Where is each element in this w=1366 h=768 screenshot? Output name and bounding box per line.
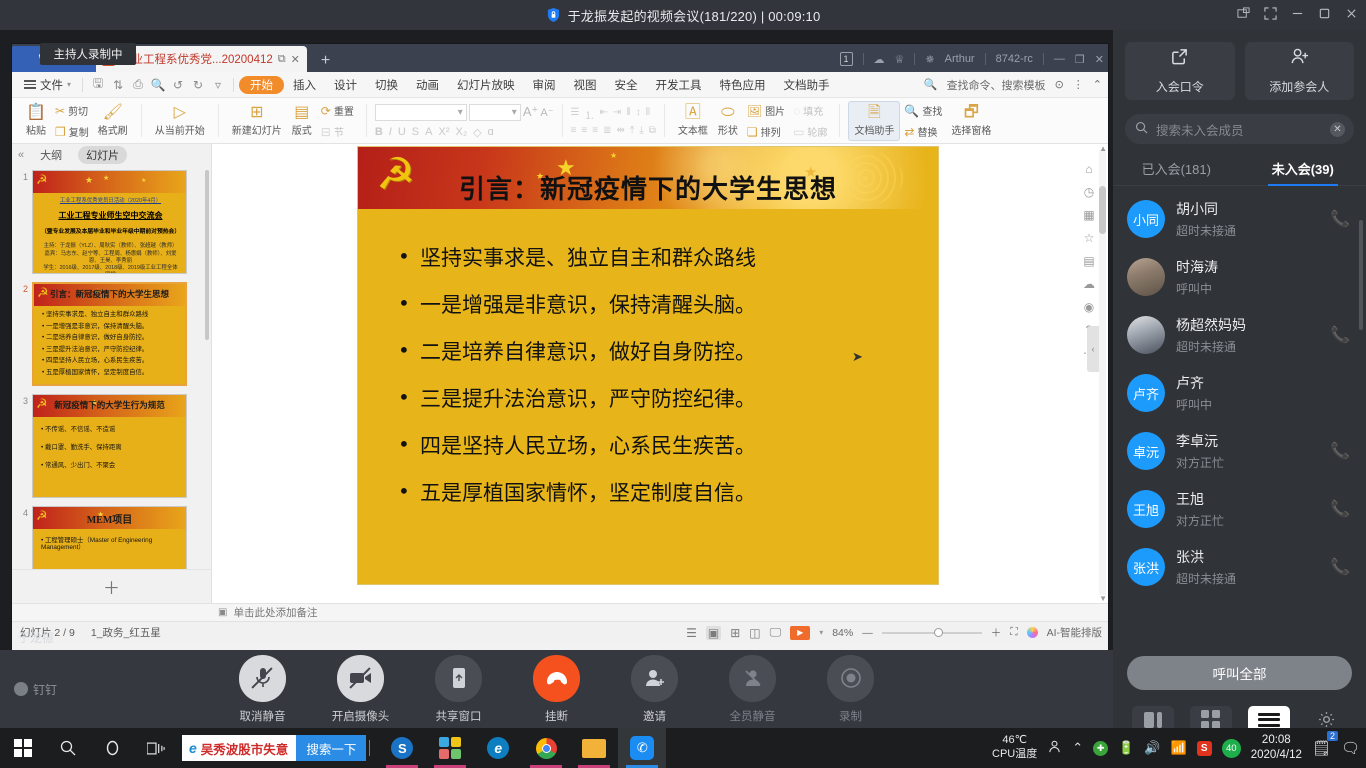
shapes-icon: ⬭ <box>721 105 735 121</box>
bullet-list-icon[interactable]: ☰ <box>571 107 580 122</box>
shirt-icon[interactable]: ♕ <box>895 53 905 66</box>
menu-tab-doc-assistant[interactable]: 文档助手 <box>775 75 839 95</box>
taskbar-tray: 46℃ CPU温度 ⌃ ✚ 🔋 🔊 📶 S 40 20:08 2020/4/12… <box>992 733 1366 763</box>
slide-bullet: 四是坚持人民立场，心系民生疾苦。 <box>396 435 920 458</box>
ai-layout-label[interactable]: AI-智能排版 <box>1047 625 1102 640</box>
format-painter-label: 格式刷 <box>98 122 128 137</box>
participant-name: 李卓沅 <box>1176 431 1224 451</box>
search-input[interactable]: 搜索未入会成员 ✕ <box>1125 114 1354 144</box>
taskbar-app-chrome[interactable] <box>522 728 570 768</box>
chevron-down-icon[interactable]: ▾ <box>819 628 823 637</box>
increase-indent-icon[interactable]: ⇥ <box>613 107 621 122</box>
thumbnail-number: 2 <box>16 282 28 386</box>
notification-icon[interactable]: 🗒 2 <box>1312 739 1331 757</box>
normal-view-icon[interactable]: ▣ <box>706 626 721 640</box>
picture-button[interactable]: 🖼图片 <box>743 101 789 120</box>
slide-editing-area[interactable]: ☭ ★ ★ ★ ★ 引言：新冠疫情下的大学生思想 坚持实事求是、独立自主和群众路… <box>212 144 1108 603</box>
record-button[interactable]: 录制 <box>807 655 895 724</box>
thumbnail-scrollbar[interactable] <box>205 170 209 340</box>
doc-assistant-button[interactable]: 🗎 文档助手 <box>848 101 900 141</box>
justify-icon[interactable]: ≣ <box>603 125 611 136</box>
play-from-current-label: 从当前开始 <box>155 122 205 137</box>
tab-joined[interactable]: 已入会(181) <box>1113 152 1240 185</box>
clear-circle-icon[interactable]: ✕ <box>1330 122 1345 137</box>
maximize-icon[interactable] <box>1318 7 1331 23</box>
thumbnail-pane-header: « 大纲 幻灯片 <box>12 144 211 166</box>
smart-align-icon[interactable]: ⧉ <box>649 125 656 136</box>
copy-icon: ❐ <box>55 125 66 139</box>
thumb-bullet: • 三是提升法治意识，严守防控纪律。 <box>42 346 179 353</box>
taskbar-app-sogou[interactable]: S <box>378 728 426 768</box>
participant-status: 超时未接通 <box>1176 338 1246 355</box>
mute-button[interactable]: 取消静音 <box>219 655 307 724</box>
participant-row[interactable]: 王旭 王旭 对方正忙 📞 <box>1113 480 1366 538</box>
align-middle-icon[interactable]: ⤓ <box>639 125 643 136</box>
collapse-pane-icon[interactable]: « <box>18 149 24 161</box>
cpu-temperature[interactable]: 46℃ CPU温度 <box>992 734 1037 762</box>
outline-view-icon[interactable]: ☰ <box>686 626 697 640</box>
menu-tab-animations[interactable]: 动画 <box>407 75 448 95</box>
columns-icon[interactable]: ⫴ <box>646 107 650 122</box>
cut-button[interactable]: ✂剪切 <box>51 101 93 120</box>
phone-icon[interactable]: 📞 <box>1330 441 1350 461</box>
replace-button[interactable]: ⇄替换 <box>900 122 946 141</box>
action-center-icon[interactable]: 🗨 <box>1341 739 1360 757</box>
taskbar-app-edge[interactable]: e <box>474 728 522 768</box>
scroll-down-icon[interactable]: ▼ <box>1099 594 1107 603</box>
reading-view-icon[interactable]: ◫ <box>749 626 760 640</box>
ribbon-group-insert: 🄰 文本框 ⬭ 形状 🖼图片 ❏排列 ◌填充 ▭轮廓 <box>668 100 837 142</box>
microphone-muted-icon <box>239 655 286 702</box>
section-label: 节 <box>334 124 344 139</box>
notes-bar[interactable]: ▣ 单击此处添加备注 <box>12 603 1108 621</box>
participant-row[interactable]: 卢齐 卢齐 呼叫中 <box>1113 364 1366 422</box>
decrease-indent-icon[interactable]: ⇤ <box>600 107 608 122</box>
more-icon[interactable]: ⋮ <box>1073 78 1084 91</box>
recording-tooltip: 主持人录制中 <box>40 43 136 65</box>
task-view-icon[interactable] <box>134 741 178 756</box>
participant-row[interactable]: 卓沅 李卓沅 对方正忙 📞 <box>1113 422 1366 480</box>
maximize-icon[interactable]: ❐ <box>1075 53 1085 66</box>
tiles-icon <box>439 737 461 759</box>
format-painter-button[interactable]: 🖌 格式刷 <box>93 101 133 141</box>
favorite-icon[interactable]: ◷ <box>1084 185 1094 199</box>
shield-lock-icon <box>546 7 561 23</box>
brand-label: 钉钉 <box>33 681 57 698</box>
slide-thumbnail-pane: « 大纲 幻灯片 1 ☭ ★ ★ <box>12 144 212 603</box>
tab-count-badge[interactable]: 1 <box>840 52 853 66</box>
record-icon <box>827 655 874 702</box>
slide-theme-name[interactable]: 1_政务_红五星 <box>91 625 161 640</box>
play-icon[interactable]: ▶ <box>790 626 810 640</box>
call-all-button[interactable]: 呼叫全部 <box>1127 656 1352 690</box>
comment-icon[interactable]: ◉ <box>1084 300 1094 314</box>
record-label: 录制 <box>839 708 862 724</box>
menu-tab-view[interactable]: 视图 <box>565 75 606 95</box>
thumbnail-card[interactable]: ☭ ★ ★ ★ 工业工程系优秀党员日活动（2020年4月） 工业工程专业师生空中… <box>32 170 187 274</box>
party-emblem-icon: ☭ <box>36 172 48 188</box>
panel-expand-handle[interactable]: ‹ <box>1087 326 1099 372</box>
slide-vertical-scrollbar[interactable] <box>1099 150 1106 595</box>
slide-sorter-icon[interactable]: ⊞ <box>730 626 740 640</box>
fill-button[interactable]: ◌填充 <box>789 101 831 120</box>
home-icon[interactable]: ⌂ <box>1085 162 1092 176</box>
thumb-bullet: • 二是培养自律意识，做好自身防控。 <box>42 334 179 341</box>
zoom-slider[interactable] <box>882 632 982 634</box>
ie-icon: e <box>182 740 197 756</box>
redo-icon[interactable]: ↻ <box>188 78 208 92</box>
reset-button[interactable]: ⟳重置 <box>317 101 358 120</box>
align-center-icon[interactable]: ≡ <box>581 125 587 136</box>
new-slide-button[interactable]: ⊞ 新建幻灯片 <box>227 101 287 141</box>
close-icon[interactable]: ✕ <box>1095 53 1104 66</box>
chevron-down-icon: ▾ <box>67 80 71 89</box>
customize-icon[interactable]: ▿ <box>208 78 228 92</box>
format-painter-icon: 🖌 <box>103 105 123 121</box>
globe-icon[interactable]: ✵ <box>925 53 934 66</box>
divider <box>233 78 234 92</box>
participant-list-scrollbar[interactable] <box>1359 220 1363 330</box>
arrange-button[interactable]: ❏排列 <box>743 122 789 141</box>
scroll-up-icon[interactable]: ▲ <box>1099 144 1107 153</box>
decrease-font-icon[interactable]: A⁻ <box>540 106 553 119</box>
thumbnail-body: 工业工程系优秀党员日活动（2020年4月） 工业工程专业师生空中交流会 （暨专业… <box>33 193 186 274</box>
chrome-icon <box>536 738 557 759</box>
avatar: 王旭 <box>1127 490 1165 528</box>
reset-label: 重置 <box>334 103 354 118</box>
share-screen-button[interactable]: 共享窗口 <box>415 655 503 724</box>
print-preview-icon[interactable]: 🔍 <box>148 78 168 92</box>
font-size-select[interactable]: ▾ <box>469 104 521 121</box>
fill-icon: ◌ <box>793 104 800 118</box>
text-effects-icon[interactable]: ɑ <box>488 126 494 138</box>
thumb-footer-line: 学生：2016级、2017级、2018级、2019级工业工程全体同学 <box>41 265 180 274</box>
avatar: 卢齐 <box>1127 374 1165 412</box>
minimize-icon[interactable] <box>1291 7 1304 23</box>
camera-button[interactable]: 开启摄像头 <box>317 655 405 724</box>
people-icon[interactable] <box>1047 739 1062 757</box>
taskbar-search-button[interactable]: 搜索一下 <box>296 735 366 761</box>
thumb-subtitle: （暨专业发展及本届毕业和毕业年级中期前对预热会） <box>41 226 180 235</box>
divider <box>839 104 840 137</box>
join-code-button[interactable]: 入会口令 <box>1125 42 1235 100</box>
menu-tab-developer[interactable]: 开发工具 <box>647 75 711 95</box>
slide-banner: ☭ ★ ★ 引言：新冠疫情下的大学生思想 <box>34 284 185 306</box>
participant-status: 呼叫中 <box>1176 280 1218 297</box>
print-icon[interactable]: ⎙ <box>128 77 148 92</box>
thumb-title: MEM项目 <box>33 511 186 526</box>
notification-count: 2 <box>1327 731 1338 741</box>
underline-icon[interactable]: U <box>398 126 406 138</box>
menu-tab-start[interactable]: 开始 <box>239 76 284 94</box>
thumbnail-number: 1 <box>16 170 28 274</box>
meeting-control-bar: 钉钉 取消静音 开启摄像头 共享窗口 挂断 <box>0 650 1113 728</box>
notes-icon: ▣ <box>218 607 227 618</box>
superscript-icon[interactable]: X² <box>438 126 449 138</box>
tray-badge[interactable]: 40 <box>1222 739 1241 758</box>
outline-button[interactable]: ▭轮廓 <box>789 122 831 141</box>
battery-icon[interactable]: 🔋 <box>1118 740 1134 756</box>
find-button[interactable]: 🔍查找 <box>900 101 946 120</box>
taskbar-clock[interactable]: 20:08 2020/4/12 <box>1251 733 1302 763</box>
clear-format-icon[interactable]: ◇ <box>473 126 481 139</box>
minimize-icon[interactable]: — <box>1054 53 1065 65</box>
mute-label: 取消静音 <box>240 708 286 724</box>
text-direction-icon[interactable]: ⦀ <box>626 107 630 122</box>
thumb-header-line: 工业工程系优秀党员日活动（2020年4月） <box>41 198 180 205</box>
thumbnail-list[interactable]: 1 ☭ ★ ★ ★ 工业工程系优秀党员日活动（2020年4月） <box>12 166 211 569</box>
tab-outline[interactable]: 大纲 <box>32 146 70 164</box>
presenter-view-icon[interactable]: 🖵 <box>770 625 782 640</box>
fullscreen-icon[interactable] <box>1264 7 1277 23</box>
thumbnail-number: 4 <box>16 506 28 569</box>
current-slide[interactable]: ☭ ★ ★ ★ ★ 引言：新冠疫情下的大学生思想 坚持实事求是、独立自主和群众路… <box>358 147 938 584</box>
save-icon[interactable]: 🖫 <box>88 74 108 95</box>
plus-icon[interactable]: ＋ <box>991 625 1002 640</box>
participant-row[interactable]: 张洪 张洪 超时未接通 📞 <box>1113 538 1366 596</box>
replace-icon: ⇄ <box>904 125 914 139</box>
search-icon[interactable]: 🔍 <box>924 78 938 91</box>
menu-tab-insert[interactable]: 插入 <box>284 75 325 95</box>
shapes-button[interactable]: ⬭ 形状 <box>713 101 743 141</box>
taskbar-app-tiles[interactable] <box>426 728 474 768</box>
menu-tab-slideshow[interactable]: 幻灯片放映 <box>448 75 524 95</box>
template-icon[interactable]: ▦ <box>1083 208 1094 222</box>
bold-icon[interactable]: B <box>375 126 383 138</box>
divider <box>664 104 665 137</box>
divider <box>218 104 219 137</box>
layout-button[interactable]: ▤ 版式 <box>287 101 317 141</box>
sogou-icon: S <box>391 737 413 759</box>
share-link-icon <box>1170 47 1189 71</box>
section-button[interactable]: ⊟节 <box>317 122 358 141</box>
cpu-temp-label: CPU温度 <box>992 748 1037 762</box>
thumbnail-item[interactable]: 4 ☭ ★ MEM项目 • 工程管理硕士（Master of Engineeri… <box>12 502 211 569</box>
slide-title: 引言：新冠疫情下的大学生思想 <box>358 169 938 206</box>
zoom-level[interactable]: 84% <box>832 627 853 639</box>
doc-icon[interactable]: ▤ <box>1083 254 1094 268</box>
menu-tab-review[interactable]: 审阅 <box>524 75 565 95</box>
cloud-sync-icon[interactable]: ⇅ <box>108 78 128 92</box>
windows-start-icon[interactable] <box>0 739 46 757</box>
clock-date: 2020/4/12 <box>1251 748 1302 763</box>
thumb-bullet: • 四是坚持人民立场，心系民生疾苦。 <box>42 357 179 364</box>
ribbon-group-slideshow: ▷ 从当前开始 <box>145 100 215 142</box>
dingtalk-logo-icon <box>14 682 28 696</box>
slide-bullet: 一是增强是非意识，保持清醒头脑。 <box>396 294 920 317</box>
thumbnail-card-selected[interactable]: ☭ ★ ★ 引言：新冠疫情下的大学生思想 • 坚持实事求是、独立自主和群众路线 … <box>32 282 187 386</box>
participant-row[interactable]: 小同 胡小同 超时未接通 📞 <box>1113 190 1366 248</box>
paste-label: 粘贴 <box>26 122 46 137</box>
wps-user-name[interactable]: Arthur <box>945 53 975 65</box>
participant-status: 超时未接通 <box>1176 570 1236 587</box>
collapse-ribbon-icon[interactable]: ⌃ <box>1093 78 1102 91</box>
phone-icon[interactable]: 📞 <box>1330 325 1350 345</box>
star-icon: ★ <box>610 151 617 160</box>
divider <box>1043 53 1044 65</box>
outline-icon: ▭ <box>793 125 804 139</box>
zoom-slider-handle[interactable] <box>934 628 943 637</box>
phone-icon[interactable]: 📞 <box>1330 557 1350 577</box>
participant-status: 呼叫中 <box>1176 396 1212 413</box>
wifi-icon[interactable]: 📶 <box>1171 740 1187 756</box>
cpu-temp-value: 46℃ <box>992 734 1037 748</box>
find-label: 查找 <box>922 103 942 118</box>
mouse-cursor-icon: ➤ <box>852 349 863 365</box>
copy-label: 复制 <box>69 124 89 139</box>
font-family-select[interactable]: ▾ <box>375 104 467 121</box>
pip-icon[interactable] <box>1237 7 1250 23</box>
textbox-label: 文本框 <box>678 122 708 137</box>
help-icon[interactable]: ⊙ <box>1055 78 1064 91</box>
thumb-bullet: • 常通风、少出门、不聚会 <box>41 462 180 469</box>
shield-green-icon[interactable]: ✚ <box>1093 741 1108 756</box>
divider <box>141 104 142 137</box>
cut-icon: ✂ <box>55 104 65 118</box>
star-icon: ★ <box>85 175 93 186</box>
thumbnail-item[interactable]: 1 ☭ ★ ★ ★ 工业工程系优秀党员日活动（2020年4月） <box>12 166 211 278</box>
new-tab-button[interactable]: + <box>307 52 344 72</box>
menu-tab-design[interactable]: 设计 <box>325 75 366 95</box>
ribbon-group-slides: ⊞ 新建幻灯片 ▤ 版式 ⟳重置 ⊟节 <box>222 100 363 142</box>
add-person-icon <box>1290 47 1309 71</box>
slide-bullet: 三是提升法治意识，严守防控纪律。 <box>396 388 920 411</box>
divider <box>369 740 378 756</box>
italic-icon[interactable]: I <box>389 126 392 138</box>
invite-button[interactable]: 邀请 <box>611 655 699 724</box>
doc-assistant-label: 文档助手 <box>854 122 894 137</box>
participant-tabs: 已入会(181) 未入会(39) <box>1113 152 1366 186</box>
participant-list[interactable]: 小同 胡小同 超时未接通 📞 时海涛 呼叫中 杨超然妈妈 超时未接通 <box>1113 190 1366 648</box>
cut-label: 剪切 <box>68 103 88 118</box>
plus-icon: ＋ <box>103 574 120 599</box>
file-menu-button[interactable]: 文件 ▾ <box>18 77 77 93</box>
tab-not-joined[interactable]: 未入会(39) <box>1240 152 1366 185</box>
distribute-icon[interactable]: ⇹ <box>616 125 624 136</box>
participant-name: 王旭 <box>1176 489 1224 509</box>
thumbnail-card[interactable]: ☭ ★ MEM项目 • 工程管理硕士（Master of Engineering… <box>32 506 187 569</box>
line-spacing-icon[interactable]: ↕ <box>636 107 641 122</box>
doc-assistant-icon: 🗎 <box>868 105 881 121</box>
thumb-bullet: • 五是厚植国家情怀，坚定制度自信。 <box>42 369 179 376</box>
add-slide-button[interactable]: ＋ <box>12 569 211 603</box>
numbered-list-icon[interactable]: ⒈ <box>585 107 595 122</box>
meeting-window-buttons <box>1237 0 1358 30</box>
layout-icon: ▤ <box>294 105 309 121</box>
play-from-current-button[interactable]: ▷ 从当前开始 <box>150 101 210 141</box>
layout-label: 版式 <box>292 122 312 137</box>
avatar <box>1127 316 1165 354</box>
participant-panel: 入会口令 添加参会人 搜索未入会成员 ✕ 已入会(181) 未入会(39) <box>1113 30 1366 768</box>
minus-icon[interactable]: — <box>862 627 873 639</box>
restore-icon[interactable]: ⧉ <box>278 53 286 66</box>
panel-actions: 入会口令 添加参会人 <box>1113 30 1366 110</box>
phone-icon[interactable]: 📞 <box>1330 499 1350 519</box>
paste-icon: 📋 <box>26 105 46 121</box>
participant-row[interactable]: 杨超然妈妈 超时未接通 📞 <box>1113 306 1366 364</box>
menu-tab-featured-apps[interactable]: 特色应用 <box>711 75 775 95</box>
wps-tabbar: WPS P 工业工程系优秀党...20200412 ⧉ ✕ + 1 ☁ ♕ ✵ … <box>12 44 1108 72</box>
text-color-icon[interactable]: A <box>425 126 432 138</box>
thumb-title: 新冠疫情下的大学生行为规范 <box>33 399 186 411</box>
edge-icon: e <box>487 737 509 759</box>
divider <box>82 78 83 92</box>
tab-slides[interactable]: 幻灯片 <box>78 146 127 164</box>
ribbon-group-paragraph: ☰ ⒈ ⇤ ⇥ ⦀ ↕ ⫴ ≡ ≡ ≡ ≣ <box>566 100 661 142</box>
cloud-icon[interactable]: ☁ <box>1083 277 1095 291</box>
phone-icon[interactable]: 📞 <box>1330 209 1350 229</box>
copy-button[interactable]: ❐复制 <box>51 122 93 141</box>
taskbar-search-box[interactable]: e 吴秀波股市失意 搜索一下 <box>182 735 366 761</box>
thumb-bullet: • 坚持实事求是、独立自主和群众路线 <box>42 311 179 318</box>
sogou-input-icon[interactable]: S <box>1197 741 1212 756</box>
divider <box>562 104 563 137</box>
search-icon[interactable] <box>46 740 90 756</box>
strikethrough-icon[interactable]: S <box>412 126 419 138</box>
ribbon-group-clipboard: 📋 粘贴 ✂剪切 ❐复制 🖌 格式刷 <box>16 100 138 142</box>
avatar: 卓沅 <box>1127 432 1165 470</box>
align-right-icon[interactable]: ≡ <box>592 125 598 136</box>
slide-bullet: 二是培养自律意识，做好自身防控。 <box>396 341 920 364</box>
slide-banner: ☭ ★ ★ ★ <box>33 171 186 193</box>
hamburger-icon <box>24 78 36 91</box>
align-left-icon[interactable]: ≡ <box>571 125 577 136</box>
mute-all-label: 全员静音 <box>730 708 776 724</box>
close-icon[interactable] <box>1345 7 1358 23</box>
windows-taskbar: e 吴秀波股市失意 搜索一下 S e ✆ <box>0 728 1366 768</box>
chevron-up-icon[interactable]: ⌃ <box>1072 740 1083 756</box>
increase-font-icon[interactable]: A⁺ <box>523 104 539 120</box>
paste-button[interactable]: 📋 粘贴 <box>21 101 51 141</box>
volume-icon[interactable]: 🔊 <box>1144 740 1160 756</box>
dingtalk-brand: 钉钉 <box>14 681 57 698</box>
taskbar-search-value[interactable]: 吴秀波股市失意 <box>197 739 297 758</box>
command-search-placeholder[interactable]: 查找命令、搜索模板 <box>947 77 1046 93</box>
thumb-bullet: • 不传谣、不信谣、不造谣 <box>41 426 180 433</box>
add-participant-button[interactable]: 添加参会人 <box>1245 42 1355 100</box>
menu-tab-security[interactable]: 安全 <box>606 75 647 95</box>
fit-to-window-icon[interactable]: ⛶ <box>1010 626 1017 639</box>
thumbnail-card[interactable]: ☭ ★ 新冠疫情下的大学生行为规范 • 不传谣、不信谣、不造谣 • 戴口罩、勤洗… <box>32 394 187 498</box>
arrange-icon: ❏ <box>747 125 758 139</box>
wps-window: WPS P 工业工程系优秀党...20200412 ⧉ ✕ + 1 ☁ ♕ ✵ … <box>12 44 1108 650</box>
subscript-icon[interactable]: X₂ <box>455 126 467 138</box>
thumbnail-item[interactable]: 2 ☭ ★ ★ 引言：新冠疫情下的大学生思想 • 坚持实事求是、独立自主和群众路… <box>12 278 211 390</box>
star-icon[interactable]: ☆ <box>1084 231 1095 245</box>
cortana-icon[interactable] <box>90 740 134 756</box>
textbox-button[interactable]: 🄰 文本框 <box>673 101 713 141</box>
align-top-icon[interactable]: ⤒ <box>630 125 634 136</box>
share-screen-label: 共享窗口 <box>436 708 482 724</box>
close-icon[interactable]: ✕ <box>291 53 300 66</box>
selection-pane-button[interactable]: 🗗 选择窗格 <box>946 101 996 141</box>
hangup-button[interactable]: 挂断 <box>513 655 601 724</box>
star-icon: ★ <box>103 174 109 182</box>
undo-icon[interactable]: ↺ <box>168 78 188 92</box>
wps-build-version: 8742-rc <box>996 53 1033 65</box>
add-participant-label: 添加参会人 <box>1269 78 1329 95</box>
mute-all-button[interactable]: 全员静音 <box>709 655 797 724</box>
taskbar-app-file-explorer[interactable] <box>570 728 618 768</box>
camera-label: 开启摄像头 <box>332 708 390 724</box>
thumbnail-item[interactable]: 3 ☭ ★ 新冠疫情下的大学生行为规范 • 不传谣、不信谣、不造谣 • 戴口罩、… <box>12 390 211 502</box>
hangup-icon <box>533 655 580 702</box>
menu-tab-transitions[interactable]: 切换 <box>366 75 407 95</box>
arrange-label: 排列 <box>761 124 781 139</box>
participant-row[interactable]: 时海涛 呼叫中 <box>1113 248 1366 306</box>
cloud-icon[interactable]: ☁ <box>874 53 885 66</box>
taskbar-app-dingtalk[interactable]: ✆ <box>618 728 666 768</box>
